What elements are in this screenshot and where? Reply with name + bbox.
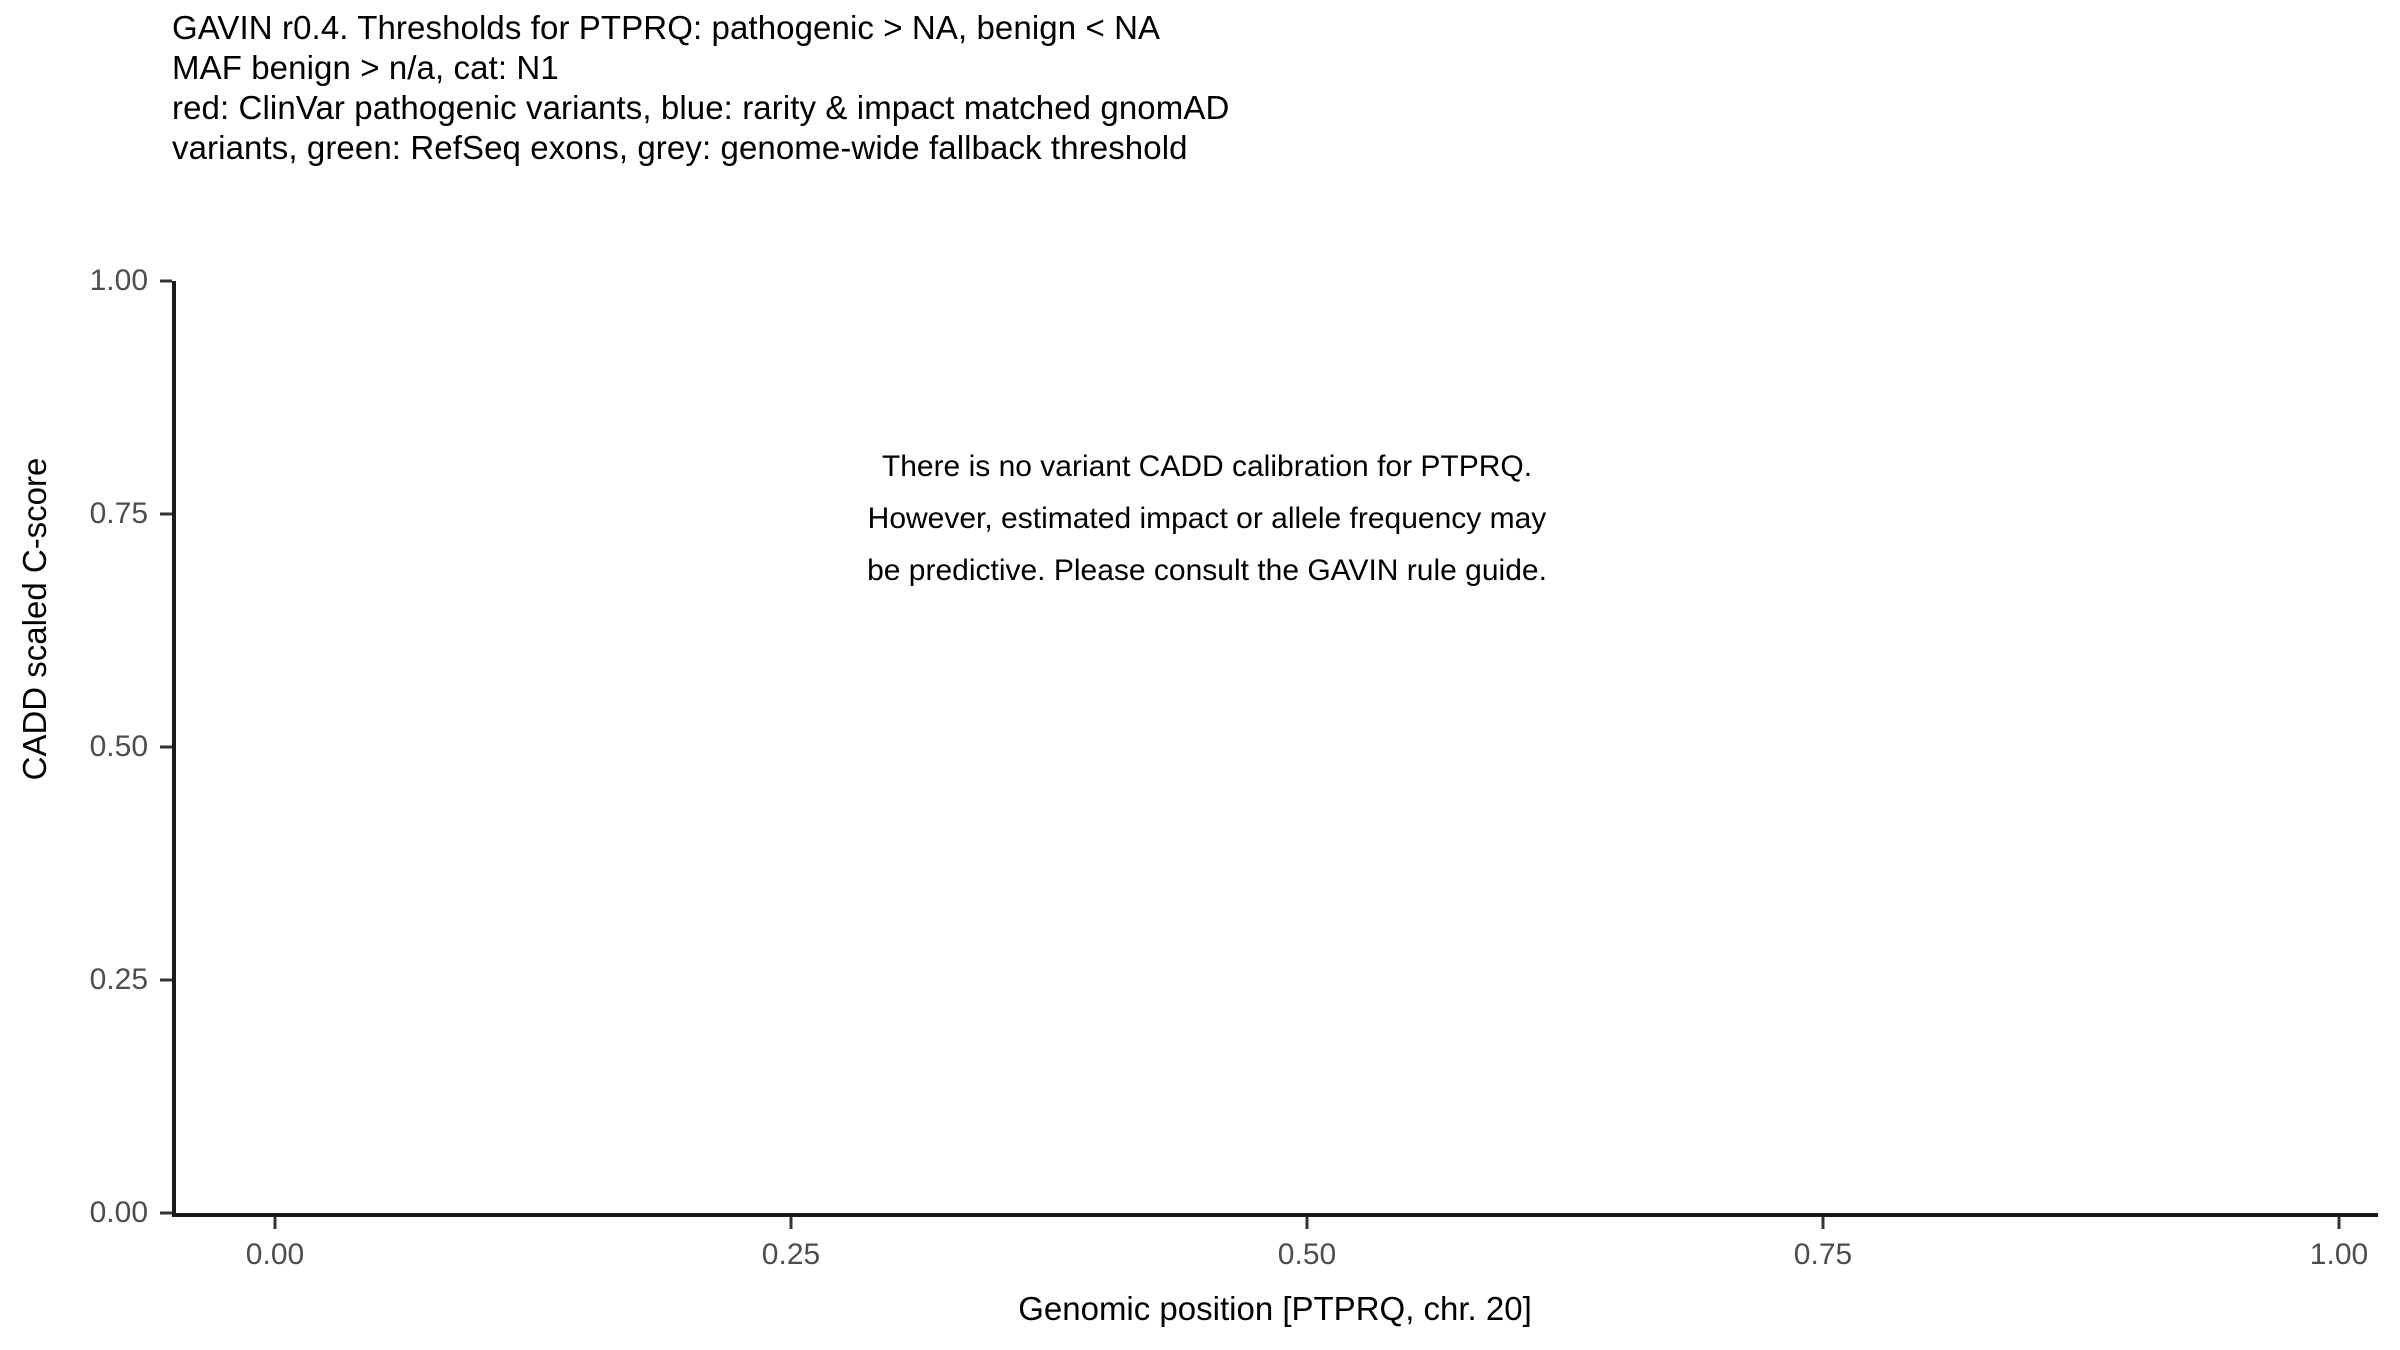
plot-title-line-1: GAVIN r0.4. Thresholds for PTPRQ: pathog… (172, 8, 2272, 48)
panel-annotation-line-3: be predictive. Please consult the GAVIN … (532, 545, 1882, 597)
y-tick-label-1.00: 1.00 (18, 264, 148, 298)
y-axis-line (172, 281, 176, 1217)
x-tick-mark-0.00 (274, 1217, 277, 1229)
plot-title-line-4: variants, green: RefSeq exons, grey: gen… (172, 128, 2272, 168)
y-tick-mark-0.00 (160, 1212, 172, 1215)
x-axis-title: Genomic position [PTPRQ, chr. 20] (172, 1290, 2378, 1328)
y-tick-mark-0.75 (160, 513, 172, 516)
x-tick-label-0.00: 0.00 (246, 1238, 304, 1272)
plot-title: GAVIN r0.4. Thresholds for PTPRQ: pathog… (172, 8, 2272, 168)
y-tick-mark-0.25 (160, 979, 172, 982)
plot-title-line-3: red: ClinVar pathogenic variants, blue: … (172, 88, 2272, 128)
plot-canvas: GAVIN r0.4. Thresholds for PTPRQ: pathog… (0, 0, 2400, 1350)
y-tick-mark-0.50 (160, 746, 172, 749)
panel-annotation-line-1: There is no variant CADD calibration for… (532, 441, 1882, 493)
x-tick-mark-0.50 (1306, 1217, 1309, 1229)
y-tick-mark-1.00 (160, 280, 172, 283)
x-axis-line (172, 1213, 2378, 1217)
panel-background (172, 281, 2378, 1215)
panel-annotation: There is no variant CADD calibration for… (532, 441, 1882, 597)
x-tick-label-0.75: 0.75 (1794, 1238, 1852, 1272)
panel-annotation-line-2: However, estimated impact or allele freq… (532, 493, 1882, 545)
y-tick-label-0.50: 0.50 (18, 730, 148, 764)
plot-title-line-2: MAF benign > n/a, cat: N1 (172, 48, 2272, 88)
x-tick-label-1.00: 1.00 (2310, 1238, 2368, 1272)
y-tick-label-0.00: 0.00 (18, 1196, 148, 1230)
y-tick-label-0.25: 0.25 (18, 963, 148, 997)
x-tick-mark-0.75 (1822, 1217, 1825, 1229)
x-tick-mark-1.00 (2338, 1217, 2341, 1229)
x-tick-mark-0.25 (790, 1217, 793, 1229)
y-axis: 1.00 0.75 0.50 0.25 0.00 (0, 0, 148, 1350)
x-tick-label-0.25: 0.25 (762, 1238, 820, 1272)
x-tick-label-0.50: 0.50 (1278, 1238, 1336, 1272)
y-tick-label-0.75: 0.75 (18, 497, 148, 531)
plot-panel: There is no variant CADD calibration for… (172, 281, 2378, 1215)
